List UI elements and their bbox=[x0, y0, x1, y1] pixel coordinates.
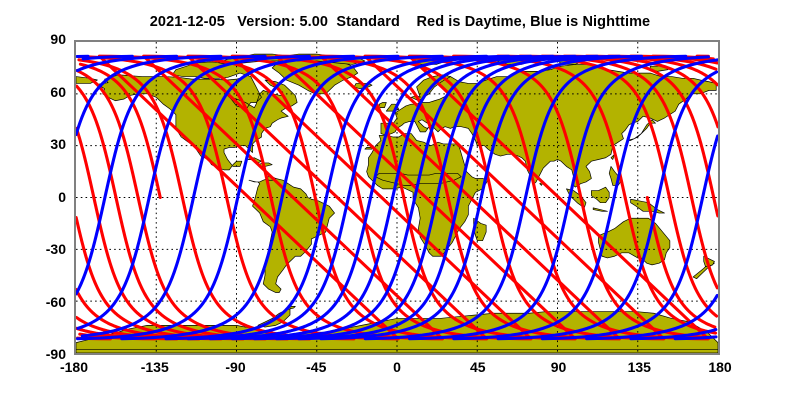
y-tick-label: -60 bbox=[20, 294, 66, 310]
figure-title: 2021-12-05 Version: 5.00 Standard Red is… bbox=[0, 14, 800, 30]
x-tick-label: 0 bbox=[367, 359, 427, 375]
y-tick-label: 60 bbox=[20, 84, 66, 100]
y-tick-label: 0 bbox=[20, 189, 66, 205]
x-tick-label: -90 bbox=[206, 359, 266, 375]
map-and-tracks-svg bbox=[76, 42, 718, 353]
x-tick-label: -180 bbox=[44, 359, 104, 375]
x-tick-label: 180 bbox=[690, 359, 750, 375]
y-tick-label: 30 bbox=[20, 136, 66, 152]
x-tick-label: 135 bbox=[609, 359, 669, 375]
x-tick-label: -135 bbox=[125, 359, 185, 375]
x-tick-label: 90 bbox=[529, 359, 589, 375]
ground-track-map-figure: 2021-12-05 Version: 5.00 Standard Red is… bbox=[0, 0, 800, 400]
y-tick-label: -30 bbox=[20, 241, 66, 257]
x-tick-label: 45 bbox=[448, 359, 508, 375]
y-tick-label: 90 bbox=[20, 31, 66, 47]
plot-area bbox=[74, 40, 720, 355]
x-tick-label: -45 bbox=[286, 359, 346, 375]
